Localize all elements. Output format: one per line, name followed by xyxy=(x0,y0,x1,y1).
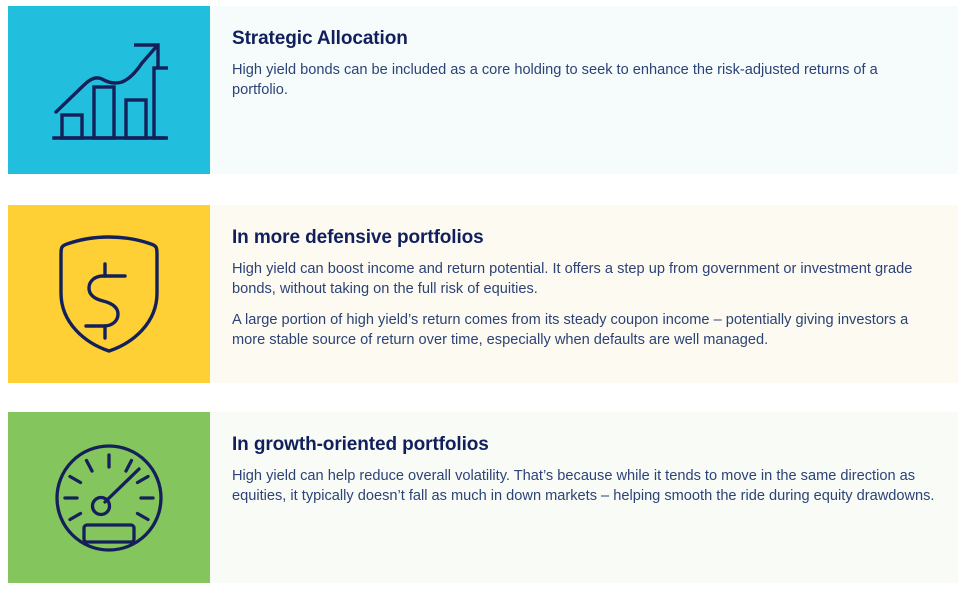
card-paragraph: High yield can boost income and return p… xyxy=(232,259,936,299)
card-paragraph: A large portion of high yield’s return c… xyxy=(232,310,936,350)
card-growth-portfolios: In growth-oriented portfolios High yield… xyxy=(8,412,958,583)
benefits-card-list: Strategic Allocation High yield bonds ca… xyxy=(0,0,975,594)
card-text-panel: In growth-oriented portfolios High yield… xyxy=(210,412,958,583)
shield-dollar-icon xyxy=(53,233,165,355)
card-icon-tile xyxy=(8,205,210,383)
speedometer-gauge-icon xyxy=(50,439,168,557)
card-paragraph: High yield can help reduce overall volat… xyxy=(232,466,936,506)
card-text-panel: In more defensive portfolios High yield … xyxy=(210,205,958,383)
card-defensive-portfolios: In more defensive portfolios High yield … xyxy=(8,205,958,383)
card-title: Strategic Allocation xyxy=(232,28,936,51)
card-paragraph: High yield bonds can be included as a co… xyxy=(232,60,936,100)
card-icon-tile xyxy=(8,6,210,174)
card-title: In growth-oriented portfolios xyxy=(232,434,936,457)
bar-chart-growth-arrow-icon xyxy=(50,35,168,145)
card-text-panel: Strategic Allocation High yield bonds ca… xyxy=(210,6,958,174)
card-strategic-allocation: Strategic Allocation High yield bonds ca… xyxy=(8,6,958,174)
card-title: In more defensive portfolios xyxy=(232,227,936,250)
card-icon-tile xyxy=(8,412,210,583)
